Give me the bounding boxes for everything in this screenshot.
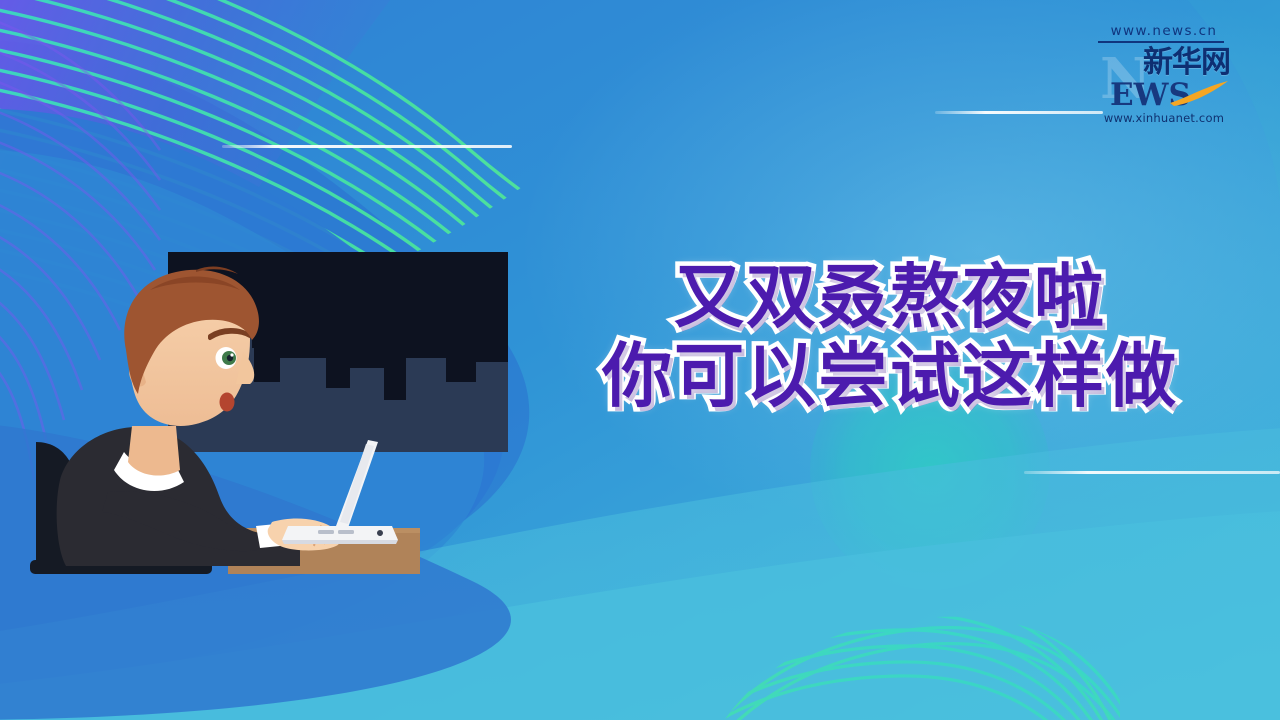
laptop <box>282 440 398 544</box>
logo-brand-chinese: 新华网 <box>1143 47 1230 79</box>
headline-block: 又双叒熬夜啦 你可以尝试这样做 <box>560 262 1220 413</box>
decorative-rule-left <box>222 145 512 148</box>
headline-line-2: 你可以尝试这样做 <box>560 341 1220 412</box>
neck <box>128 426 180 476</box>
illustration-svg <box>0 230 560 610</box>
logo-top-url: www.news.cn <box>1098 24 1230 39</box>
decorative-rule-right <box>1024 471 1280 474</box>
logo-underline <box>1098 41 1224 43</box>
logo-swoosh-icon <box>1168 77 1230 107</box>
poster-canvas: 又双叒熬夜啦 你可以尝试这样做 www.news.cn N 新华网 EWS ww… <box>0 0 1280 720</box>
eye <box>216 347 237 369</box>
headline-line-1: 又双叒熬夜啦 <box>560 262 1220 333</box>
illustration-man-working-late <box>0 230 560 610</box>
mouth <box>220 393 235 412</box>
logo-mark: N 新华网 EWS <box>1098 45 1230 115</box>
xinhua-logo[interactable]: www.news.cn N 新华网 EWS www.xinhuanet.com <box>1098 24 1230 132</box>
decorative-rule-top-right <box>935 111 1103 114</box>
